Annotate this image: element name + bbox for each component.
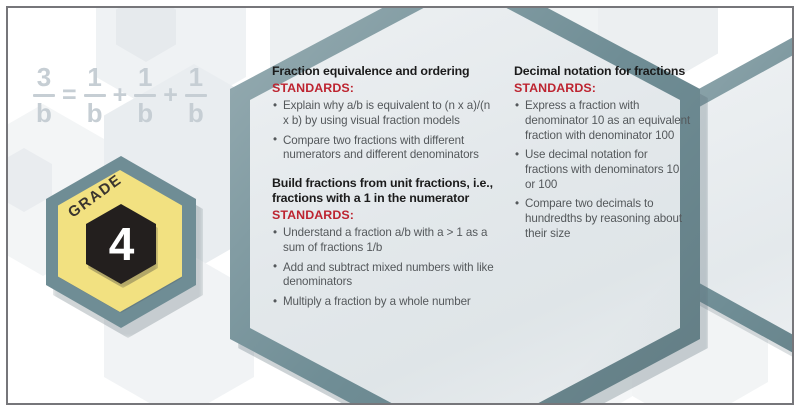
standards-column-left: Fraction equivalence and ordering STANDA… — [272, 64, 496, 310]
fraction-numerator: 1 — [189, 64, 203, 91]
standards-heading: STANDARDS: — [514, 81, 692, 95]
fraction-denominator: b — [137, 100, 153, 127]
fraction-numerator: 1 — [87, 64, 101, 91]
standards-column-right: Decimal notation for fractions STANDARDS… — [514, 64, 692, 310]
grade-number: 4 — [86, 204, 156, 284]
section-title: Decimal notation for fractions — [514, 64, 692, 79]
fraction-denominator: b — [87, 100, 103, 127]
standards-section: Decimal notation for fractions STANDARDS… — [514, 64, 692, 242]
standards-section: Fraction equivalence and ordering STANDA… — [272, 64, 496, 163]
fraction-term: 3 b — [33, 64, 55, 126]
standards-bullet-list: Express a fraction with denominator 10 a… — [514, 99, 692, 241]
standards-bullet: Understand a fraction a/b with a > 1 as … — [272, 226, 496, 255]
fraction-bar — [33, 94, 55, 97]
section-title: Fraction equivalence and ordering — [272, 64, 496, 79]
fraction-term: 1 b — [84, 64, 106, 126]
standards-bullet-list: Understand a fraction a/b with a > 1 as … — [272, 226, 496, 310]
standards-section: Build fractions from unit fractions, i.e… — [272, 176, 496, 310]
standards-bullet: Add and subtract mixed numbers with like… — [272, 261, 496, 290]
equation-operator-plus: + — [113, 81, 128, 110]
standards-bullet: Multiply a fraction by a whole number — [272, 295, 496, 310]
standards-bullet: Compare two fractions with different num… — [272, 134, 496, 163]
standards-heading: STANDARDS: — [272, 81, 496, 95]
equation-operator-equals: = — [62, 81, 77, 110]
fraction-numerator: 1 — [138, 64, 152, 91]
fraction-term: 1 b — [134, 64, 156, 126]
fraction-denominator: b — [36, 100, 52, 127]
standards-bullet: Express a fraction with denominator 10 a… — [514, 99, 692, 143]
grade-badge: GRADE 4 — [46, 156, 196, 328]
standards-heading: STANDARDS: — [272, 208, 496, 222]
fraction-bar — [185, 94, 207, 97]
standards-bullet: Compare two decimals to hundredths by re… — [514, 197, 692, 241]
standards-bullet-list: Explain why a/b is equivalent to (n x a)… — [272, 99, 496, 163]
standards-content: Fraction equivalence and ordering STANDA… — [272, 64, 702, 310]
section-title: Build fractions from unit fractions, i.e… — [272, 176, 496, 206]
fraction-equation-watermark: 3 b = 1 b + 1 b + 1 b — [30, 64, 210, 126]
standards-bullet: Use decimal notation for fractions with … — [514, 148, 692, 192]
infographic-poster: 3 b = 1 b + 1 b + 1 b — [0, 0, 800, 411]
equation-operator-plus: + — [163, 81, 178, 110]
fraction-term: 1 b — [185, 64, 207, 126]
fraction-denominator: b — [188, 100, 204, 127]
fraction-numerator: 3 — [37, 64, 51, 91]
standards-bullet: Explain why a/b is equivalent to (n x a)… — [272, 99, 496, 128]
fraction-bar — [84, 94, 106, 97]
poster-stage: 3 b = 1 b + 1 b + 1 b — [8, 8, 792, 403]
fraction-bar — [134, 94, 156, 97]
